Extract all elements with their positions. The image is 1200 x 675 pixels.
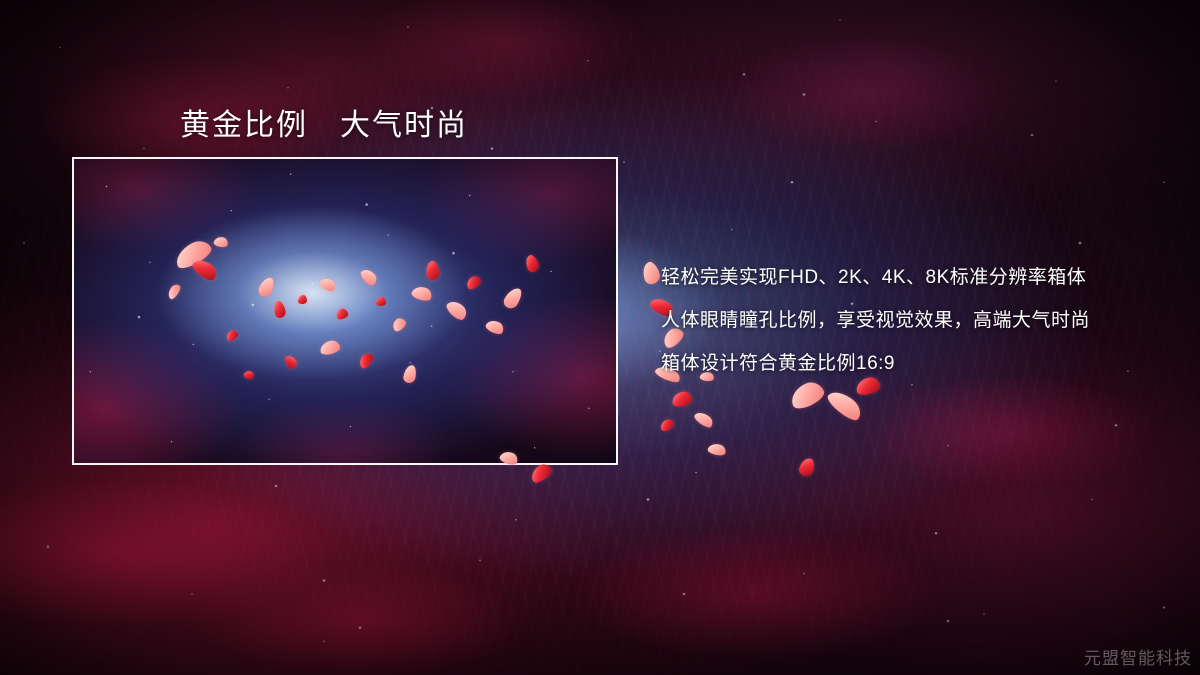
company-watermark: 元盟智能科技 (1084, 644, 1192, 669)
rose-petal-icon (693, 409, 716, 430)
rose-petal-icon (376, 297, 386, 306)
body-line-1: 轻松完美实现FHD、2K、4K、8K标准分辨率箱体 (661, 256, 1181, 299)
galaxy-photo-frame (72, 157, 618, 465)
body-text-block: 轻松完美实现FHD、2K、4K、8K标准分辨率箱体 人体眼睛瞳孔比例，享受视觉效… (661, 256, 1181, 385)
rose-petal-icon (659, 417, 676, 432)
rose-petal-icon (707, 442, 727, 457)
body-line-2: 人体眼睛瞳孔比例，享受视觉效果，高端大气时尚 (661, 299, 1181, 342)
body-line-3: 箱体设计符合黄金比例16:9 (661, 342, 1181, 385)
rose-petal-icon (640, 260, 662, 286)
rose-petal-icon (671, 390, 693, 407)
presentation-slide: 黄金比例 大气时尚 轻松完美实现FHD、2K、4K、8K标准分辨率箱体 人体眼睛… (0, 0, 1200, 675)
rose-petal-icon (298, 295, 307, 304)
rose-petal-icon (798, 456, 817, 477)
page-title: 黄金比例 大气时尚 (180, 100, 468, 144)
